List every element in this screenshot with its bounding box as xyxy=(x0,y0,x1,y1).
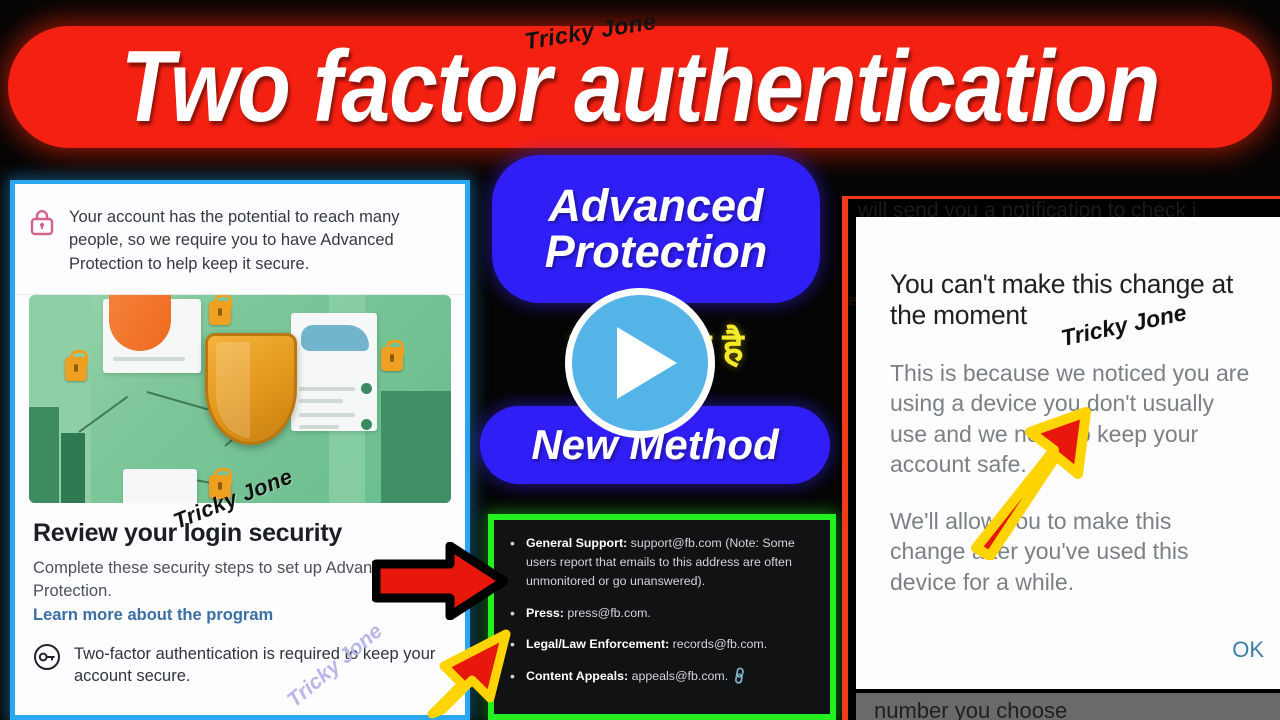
support-contacts-list: General Support: support@fb.com (Note: S… xyxy=(504,534,818,686)
bottom-strip-text: number you choose xyxy=(856,699,1280,720)
bottom-strip: number you choose xyxy=(856,693,1280,720)
thumbnail-canvas: Two factor authentication Tricky Jone Yo… xyxy=(0,0,1280,720)
support-value-3: appeals@fb.com. xyxy=(632,669,729,683)
list-item: Legal/Law Enforcement: records@fb.com. xyxy=(504,635,818,654)
arrow-up-yellow xyxy=(420,618,530,720)
key-icon xyxy=(33,643,61,688)
list-item: General Support: support@fb.com (Note: S… xyxy=(504,534,818,591)
support-value-1: press@fb.com. xyxy=(567,606,651,620)
account-notice-text: Your account has the potential to reach … xyxy=(69,206,449,276)
badge-advanced-protection: Advanced Protection xyxy=(492,155,820,303)
arrow-up-right-dialog xyxy=(958,398,1098,560)
play-icon[interactable] xyxy=(565,288,715,438)
two-factor-row[interactable]: Two-factor authentication is required to… xyxy=(33,643,447,688)
lock-icon xyxy=(29,208,55,276)
support-label-1: Press: xyxy=(526,606,564,620)
ok-button[interactable]: OK xyxy=(1232,637,1264,663)
shield-illustration xyxy=(29,295,451,503)
list-item: Press: press@fb.com. xyxy=(504,604,818,623)
badge-advanced-line1: Advanced xyxy=(548,183,763,229)
link-icon[interactable]: 🔗 xyxy=(728,664,751,688)
support-label-3: Content Appeals: xyxy=(526,669,628,683)
support-label-0: General Support: xyxy=(526,536,627,550)
badge-advanced-line2: Protection xyxy=(545,229,768,275)
list-item: Content Appeals: appeals@fb.com. 🔗 xyxy=(504,667,818,686)
advanced-protection-panel: Your account has the potential to reach … xyxy=(10,180,470,720)
support-label-2: Legal/Law Enforcement: xyxy=(526,637,669,651)
support-value-2: records@fb.com. xyxy=(673,637,768,651)
shield-graphic xyxy=(205,333,297,445)
two-factor-text: Two-factor authentication is required to… xyxy=(74,643,447,688)
account-notice: Your account has the potential to reach … xyxy=(15,184,465,295)
title-banner: Two factor authentication xyxy=(8,26,1272,148)
play-triangle xyxy=(617,327,677,399)
arrow-right-black xyxy=(372,542,508,620)
support-contacts-box: General Support: support@fb.com (Note: S… xyxy=(488,514,836,720)
dialog-title: You can't make this change at the moment xyxy=(856,217,1280,332)
